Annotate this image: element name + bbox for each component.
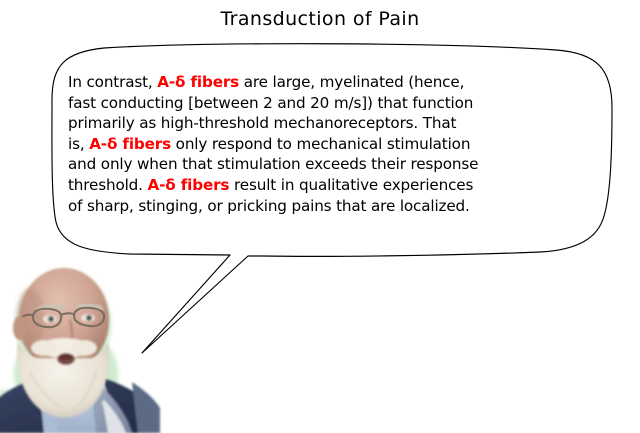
bubble-line-5: and only when that stimulation exceeds t…: [68, 154, 584, 175]
portrait-photo: [0, 262, 164, 433]
bubble-line-7: of sharp, stinging, or pricking pains th…: [68, 196, 584, 217]
bubble-line-4: is, A-δ fibers only respond to mechanica…: [68, 134, 584, 155]
bubble-term-highlight: A-δ fibers: [89, 135, 171, 153]
speech-bubble-text: In contrast, A-δ fibers are large, myeli…: [68, 72, 584, 216]
bubble-text-segment: of sharp, stinging, or pricking pains th…: [68, 197, 470, 215]
bubble-line-6: threshold. A-δ fibers result in qualitat…: [68, 175, 584, 196]
bubble-term-highlight: A-δ fibers: [148, 176, 230, 194]
bubble-text-segment: is,: [68, 135, 89, 153]
bubble-line-2: fast conducting [between 2 and 20 m/s]) …: [68, 93, 584, 114]
bubble-text-segment: fast conducting [between 2 and 20 m/s]) …: [68, 94, 473, 112]
slide-canvas: Transduction of Pain In contrast, A-δ fi…: [0, 0, 640, 433]
bubble-text-segment: threshold.: [68, 176, 148, 194]
bubble-text-segment: In contrast,: [68, 73, 157, 91]
bubble-text-segment: only respond to mechanical stimulation: [171, 135, 470, 153]
bubble-text-segment: primarily as high-threshold mechanorecep…: [68, 114, 456, 132]
bubble-text-segment: are large, myelinated (hence,: [239, 73, 464, 91]
ear: [13, 316, 27, 340]
bubble-line-3: primarily as high-threshold mechanorecep…: [68, 113, 584, 134]
bubble-term-highlight: A-δ fibers: [157, 73, 239, 91]
bubble-line-1: In contrast, A-δ fibers are large, myeli…: [68, 72, 584, 93]
bubble-text-segment: result in qualitative experiences: [229, 176, 473, 194]
bubble-text-segment: and only when that stimulation exceeds t…: [68, 155, 478, 173]
